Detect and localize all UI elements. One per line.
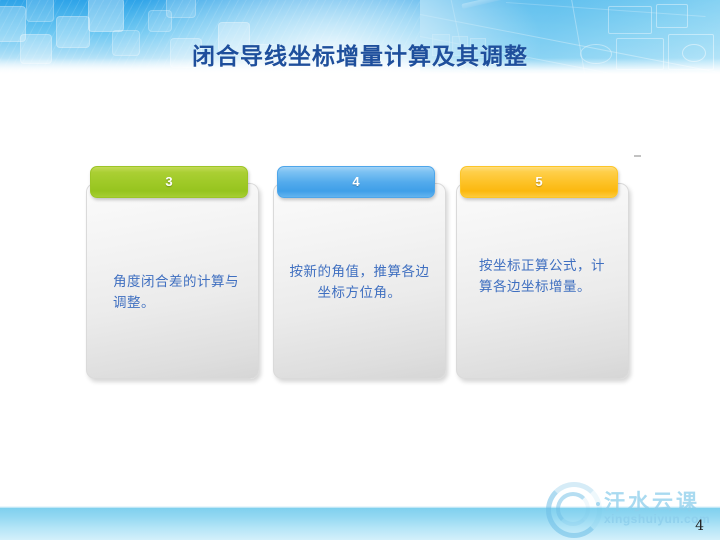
- card-tab-number: 5: [460, 166, 618, 198]
- card-tab-number: 3: [90, 166, 248, 198]
- page-number: 4: [695, 518, 704, 534]
- card-tab-number: 4: [277, 166, 435, 198]
- card-text: 按坐标正算公式，计算各边坐标增量。: [479, 256, 618, 298]
- card-text: 角度闭合差的计算与调整。: [113, 272, 248, 314]
- footer-band: [0, 508, 720, 540]
- step-card-5[interactable]: 按坐标正算公式，计算各边坐标增量。 5: [456, 166, 629, 380]
- decor-square: [88, 0, 124, 32]
- card-body: 按新的角值，推算各边坐标方位角。: [273, 183, 446, 379]
- page-title: 闭合导线坐标增量计算及其调整: [0, 37, 720, 71]
- decor-square: [26, 0, 54, 22]
- card-number-label: 4: [278, 174, 434, 189]
- stray-mark: [634, 155, 641, 157]
- card-body: 按坐标正算公式，计算各边坐标增量。: [456, 183, 629, 379]
- slide: 闭合导线坐标增量计算及其调整 角度闭合差的计算与调整。 3 按新的角值，推算各边…: [0, 0, 720, 540]
- card-number-label: 3: [91, 174, 247, 189]
- card-text: 按新的角值，推算各边坐标方位角。: [286, 262, 433, 304]
- step-card-3[interactable]: 角度闭合差的计算与调整。 3: [86, 166, 259, 380]
- step-card-4[interactable]: 按新的角值，推算各边坐标方位角。 4: [273, 166, 446, 380]
- card-group: 角度闭合差的计算与调整。 3 按新的角值，推算各边坐标方位角。 4 按坐标正算公…: [86, 166, 634, 382]
- decor-square: [166, 0, 196, 18]
- card-body: 角度闭合差的计算与调整。: [86, 183, 259, 379]
- card-number-label: 5: [461, 174, 617, 189]
